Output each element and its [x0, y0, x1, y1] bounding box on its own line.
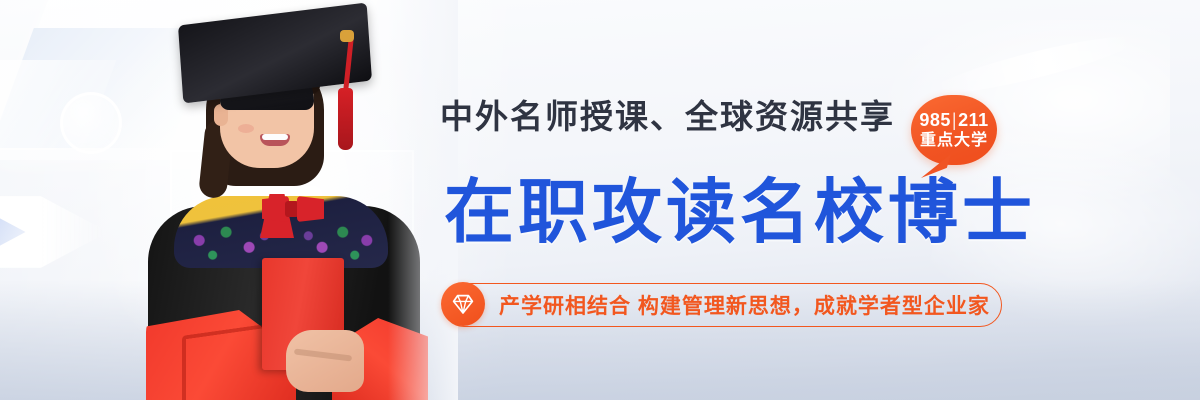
diamond-icon	[441, 282, 485, 326]
badge-211-label: 211	[958, 110, 989, 130]
badge-top-line: 985|211	[919, 110, 988, 130]
badge-bottom-line: 重点大学	[920, 131, 988, 151]
status-badge-985-211: 985|211 重点大学	[911, 95, 997, 165]
badge-separator: |	[951, 110, 958, 130]
tassel-tail	[338, 88, 353, 150]
tagline-pill: 产学研相结合 构建管理新思想，成就学者型企业家	[442, 283, 1002, 327]
badge-985-label: 985	[919, 110, 951, 130]
bow-tie	[262, 196, 324, 222]
tagline-text: 产学研相结合 构建管理新思想，成就学者型企业家	[499, 290, 990, 320]
mouth	[260, 134, 290, 146]
banner-subtitle: 中外名师授课、全球资源共享	[440, 95, 895, 139]
banner-content: 中外名师授课、全球资源共享 985|211 重点大学 在职攻读名校博士 产学研相…	[440, 0, 1040, 400]
graduate-photo	[110, 0, 440, 400]
subtitle-row: 中外名师授课、全球资源共享 985|211 重点大学	[440, 95, 997, 165]
tassel-knot	[340, 30, 354, 42]
cheek	[238, 124, 254, 133]
hands	[286, 330, 364, 392]
sleeve-pattern	[182, 324, 264, 400]
promo-banner: 中外名师授课、全球资源共享 985|211 重点大学 在职攻读名校博士 产学研相…	[0, 0, 1200, 400]
banner-headline: 在职攻读名校博士	[444, 170, 1036, 254]
